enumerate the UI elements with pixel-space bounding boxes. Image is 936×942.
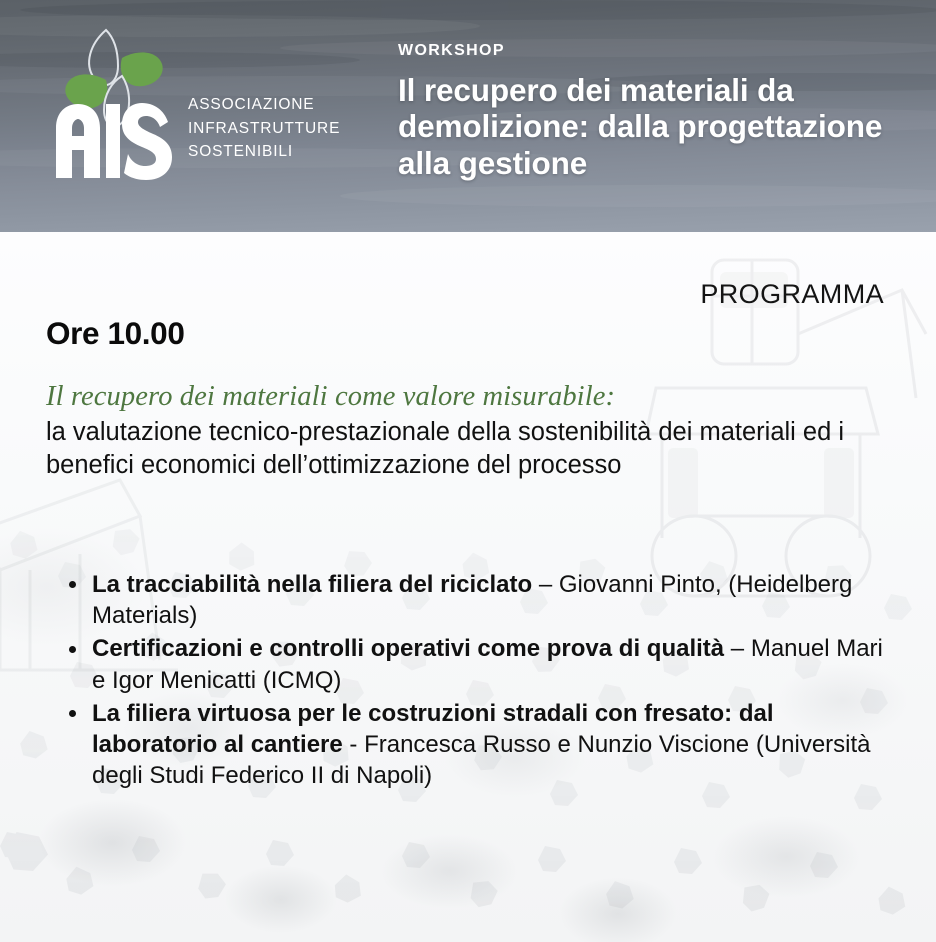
workshop-kicker: WORKSHOP bbox=[398, 42, 888, 60]
poster-title: Il recupero dei materiali da demolizione… bbox=[398, 72, 888, 181]
list-item: Certificazioni e controlli operativi com… bbox=[66, 633, 896, 695]
programma-label: PROGRAMMA bbox=[700, 279, 884, 310]
session-lead: Il recupero dei materiali come valore mi… bbox=[46, 380, 886, 482]
poster-canvas: ASSOCIAZIONE INFRASTRUTTURE SOSTENIBILI … bbox=[0, 0, 936, 942]
talks-list: La tracciabilità nella filiera del ricic… bbox=[66, 569, 896, 793]
header-text-block: WORKSHOP Il recupero dei materiali da de… bbox=[398, 42, 888, 181]
bullet-dot-icon bbox=[69, 646, 76, 653]
list-item: La tracciabilità nella filiera del ricic… bbox=[66, 569, 896, 631]
session-title: Il recupero dei materiali come valore mi… bbox=[46, 380, 886, 414]
bullet-dot-icon bbox=[69, 581, 76, 588]
brand-line-3: SOSTENIBILI bbox=[188, 140, 340, 164]
program-time: Ore 10.00 bbox=[46, 315, 184, 352]
brand-wordmark: ASSOCIAZIONE INFRASTRUTTURE SOSTENIBILI bbox=[188, 93, 340, 164]
talk-title: La tracciabilità nella filiera del ricic… bbox=[92, 571, 532, 598]
talk-separator: - bbox=[343, 731, 364, 758]
ais-logo bbox=[44, 18, 184, 188]
session-subtitle: la valutazione tecnico-prestazionale del… bbox=[46, 416, 886, 482]
brand-line-2: INFRASTRUTTURE bbox=[188, 117, 340, 141]
poster-header-band: ASSOCIAZIONE INFRASTRUTTURE SOSTENIBILI … bbox=[0, 0, 936, 232]
talk-separator: – bbox=[532, 571, 559, 598]
list-item: La filiera virtuosa per le costruzioni s… bbox=[66, 698, 896, 792]
brand-lockup: ASSOCIAZIONE INFRASTRUTTURE SOSTENIBILI bbox=[44, 18, 374, 188]
ais-monogram bbox=[56, 103, 172, 180]
talk-title: Certificazioni e controlli operativi com… bbox=[92, 635, 724, 662]
talk-separator: – bbox=[724, 635, 751, 662]
bullet-dot-icon bbox=[69, 710, 76, 717]
brand-line-1: ASSOCIAZIONE bbox=[188, 93, 340, 117]
